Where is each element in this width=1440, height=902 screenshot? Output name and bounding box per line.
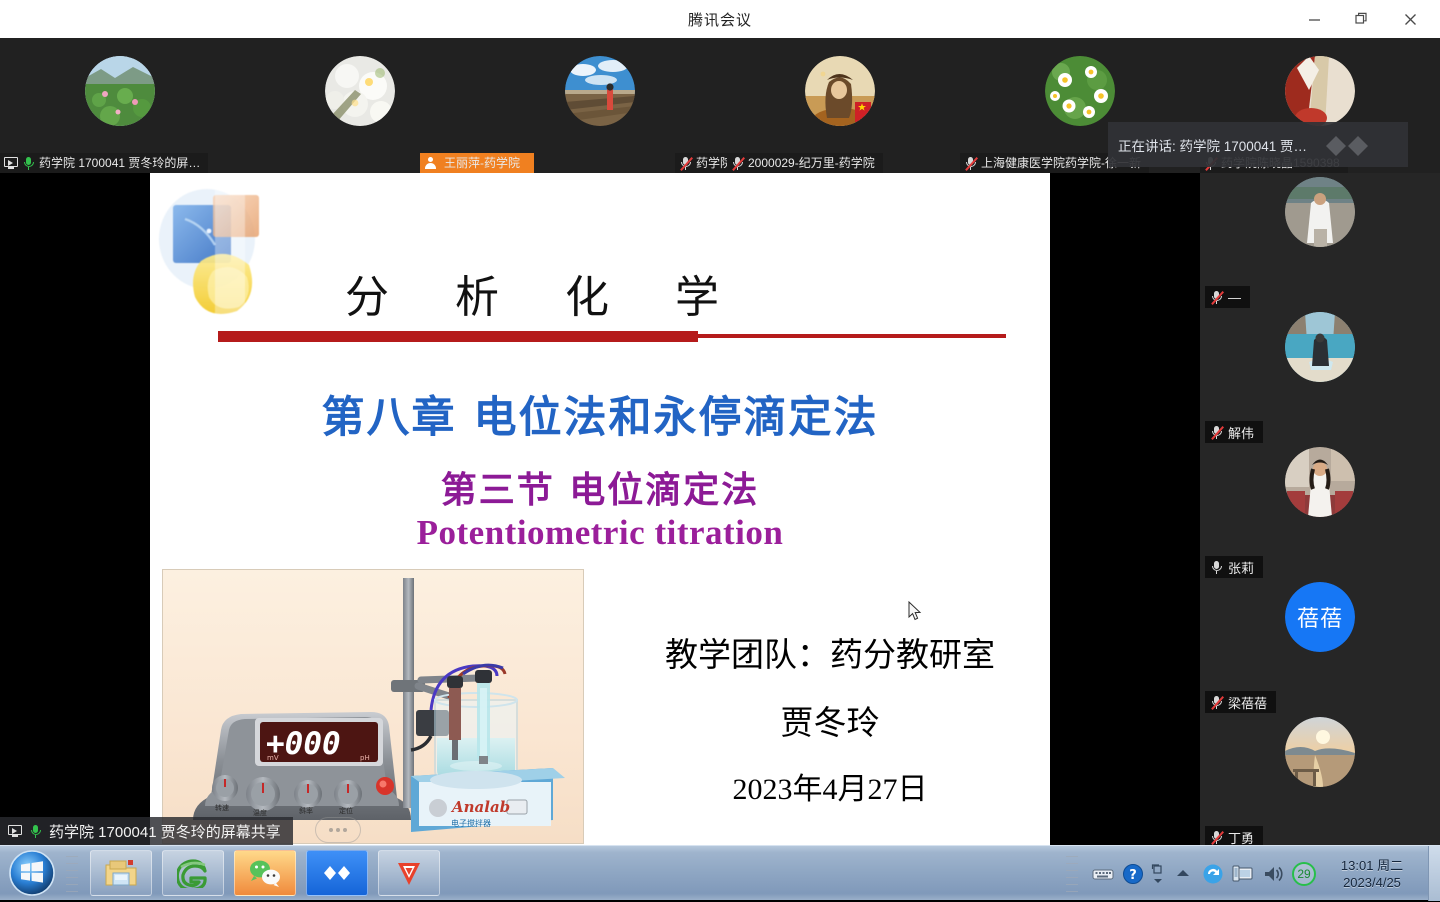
active-speaker-tooltip: 正在讲话: 药学院 1700041 贾…: [1108, 122, 1408, 167]
sidebar-participant-tile[interactable]: —: [1200, 173, 1440, 308]
svg-text:pH: pH: [360, 754, 370, 762]
minimize-button[interactable]: [1292, 4, 1336, 34]
close-button[interactable]: [1388, 4, 1432, 34]
taskbar-item-wps-office[interactable]: [378, 850, 440, 896]
participant-name: 丁勇: [1228, 828, 1254, 847]
taskbar-item-internet-explorer[interactable]: [162, 850, 224, 896]
system-tray: ?: [1066, 846, 1440, 901]
notification-count: 29: [1292, 862, 1316, 886]
microphone-muted-icon: [731, 156, 744, 171]
participant-name-badge: 2000029-纪万里-药学院: [727, 153, 883, 173]
participant-name-badge: 张莉: [1205, 556, 1263, 578]
svg-text:mV: mV: [267, 754, 279, 762]
participant-name: 解伟: [1228, 423, 1254, 442]
taskbar-item-wechat[interactable]: [234, 850, 296, 896]
sidebar-participant-tile[interactable]: 丁勇: [1200, 713, 1440, 848]
participant-name: —: [1228, 290, 1241, 305]
avatar: [1285, 717, 1355, 787]
participant-filmstrip: 药学院 1700041 贾冬玲的屏… 王丽萍-药学院: [0, 38, 1440, 173]
participant-name: 梁蓓蓓: [1228, 693, 1267, 712]
person-icon: [420, 153, 440, 173]
show-desktop-button[interactable]: [1428, 846, 1440, 901]
microphone-muted-icon: [1210, 425, 1223, 440]
avatar: [85, 56, 155, 126]
avatar: [1285, 312, 1355, 382]
avatar: [1045, 56, 1115, 126]
svg-text:转速: 转速: [215, 803, 229, 812]
windows-taskbar: ?: [0, 845, 1440, 900]
microphone-icon: [1210, 560, 1223, 575]
overflow-stack-icon[interactable]: [1150, 861, 1166, 887]
mouse-cursor: [908, 601, 922, 621]
microphone-muted-icon: [1210, 830, 1223, 845]
window-title: 腾讯会议: [688, 9, 752, 30]
titration-apparatus-image: +000 mV pH 转速 温度: [162, 569, 584, 844]
svg-text:电子搅拌器: 电子搅拌器: [451, 818, 491, 828]
participant-name-badge: 梁蓓蓓: [1205, 691, 1276, 713]
svg-text:斜率: 斜率: [299, 806, 313, 815]
clock-time: 13:01 周二: [1320, 857, 1424, 874]
screen-share-label: 药学院 1700041 贾冬玲的屏幕共享: [0, 817, 293, 845]
title-rule-thick: [218, 331, 698, 342]
credits-block: 教学团队：药分教研室 贾冬玲 2023年4月27日: [610, 628, 1050, 828]
filmstrip-tile[interactable]: 药学院 1700041 贾冬玲的屏…: [0, 38, 240, 173]
clock-date: 2023/4/25: [1320, 874, 1424, 891]
filmstrip-tile[interactable]: 2000029-纪万里-药学院: [720, 38, 960, 173]
presentation-slide: 分 析 化 学 第八章 电位法和永停滴定法 第三节 电位滴定法 Potentio…: [150, 173, 1050, 845]
microphone-icon: [22, 156, 35, 171]
tencent-meeting-logo-icon: [1322, 132, 1382, 158]
avatar-initials-text: 蓓蓓: [1285, 582, 1355, 652]
help-icon[interactable]: ?: [1120, 861, 1146, 887]
participant-name: 张莉: [1228, 558, 1254, 577]
avatar: [805, 56, 875, 126]
sidebar-participant-tile[interactable]: 张莉: [1200, 443, 1440, 578]
restore-button[interactable]: [1340, 4, 1384, 34]
participant-name-badge: 药学院 1700041 贾冬玲的屏…: [0, 153, 208, 173]
teacher-name: 贾冬玲: [610, 696, 1050, 744]
section-heading-english: Potentiometric titration: [150, 513, 1050, 553]
start-button[interactable]: [4, 849, 60, 897]
sync-icon[interactable]: [1200, 861, 1226, 887]
window-titlebar: 腾讯会议: [0, 0, 1440, 38]
keyboard-ime-icon[interactable]: [1090, 861, 1116, 887]
microphone-icon: [29, 824, 42, 839]
avatar: [325, 56, 395, 126]
sidebar-participant-tile[interactable]: 解伟: [1200, 308, 1440, 443]
notification-count-badge[interactable]: 29: [1290, 861, 1318, 887]
avatar: [1285, 177, 1355, 247]
svg-text:定位: 定位: [339, 806, 353, 815]
microphone-muted-icon: [1210, 290, 1223, 305]
tray-grip: [1066, 856, 1078, 892]
microphone-muted-icon: [679, 156, 692, 171]
svg-text:?: ?: [1129, 868, 1137, 883]
slide-date: 2023年4月27日: [610, 764, 1050, 808]
chapter-heading: 第八章 电位法和永停滴定法: [150, 383, 1050, 445]
participant-name-badge: 解伟: [1205, 421, 1263, 443]
window-controls: [1292, 0, 1432, 38]
share-more-options-button[interactable]: [315, 817, 361, 843]
sidebar-participant-tile[interactable]: 蓓蓓 梁蓓蓓: [1200, 578, 1440, 713]
microphone-muted-icon: [1210, 695, 1223, 710]
filmstrip-tile[interactable]: 王丽萍-药学院: [240, 38, 480, 173]
decorative-artwork: [155, 183, 335, 323]
course-title: 分 析 化 学: [345, 261, 745, 325]
title-rule-thin: [698, 334, 1006, 338]
avatar: [565, 56, 635, 126]
active-speaker-text: 正在讲话: 药学院 1700041 贾…: [1118, 135, 1307, 155]
section-heading: 第三节 电位滴定法: [150, 461, 1050, 513]
avatar-initials: 蓓蓓: [1285, 582, 1355, 652]
taskbar-grip[interactable]: [66, 856, 78, 892]
svg-text:温度: 温度: [253, 808, 267, 817]
show-hidden-icons-button[interactable]: [1170, 861, 1196, 887]
participant-name-badge: —: [1205, 286, 1250, 308]
taskbar-item-file-explorer[interactable]: [90, 850, 152, 896]
shared-screen-stage: 分 析 化 学 第八章 电位法和永停滴定法 第三节 电位滴定法 Potentio…: [0, 173, 1200, 845]
participant-name: 2000029-纪万里-药学院: [748, 153, 875, 173]
svg-text:Analab: Analab: [450, 798, 510, 816]
avatar: [1285, 56, 1355, 126]
filmstrip-tile[interactable]: 药学院张宜凡0870042: [480, 38, 720, 173]
screen-share-icon: [4, 157, 18, 169]
screen-share-icon: [8, 825, 22, 837]
volume-icon[interactable]: [1260, 861, 1286, 887]
microphone-muted-icon: [964, 156, 977, 171]
participant-sidebar: — 解伟: [1200, 173, 1440, 845]
avatar: [1285, 447, 1355, 517]
participant-name: 药学院 1700041 贾冬玲的屏…: [39, 153, 200, 173]
network-display-icon[interactable]: [1230, 861, 1256, 887]
screen-share-label-text: 药学院 1700041 贾冬玲的屏幕共享: [49, 821, 281, 842]
taskbar-clock[interactable]: 13:01 周二 2023/4/25: [1320, 857, 1424, 891]
teaching-team: 教学团队：药分教研室: [610, 628, 1050, 676]
taskbar-item-tencent-meeting[interactable]: [306, 850, 368, 896]
